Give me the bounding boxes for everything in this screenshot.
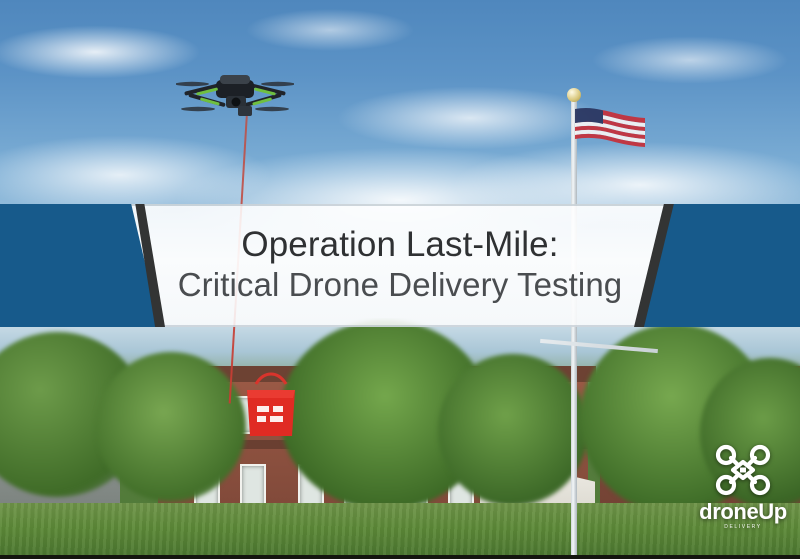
bottom-border	[0, 555, 800, 559]
quadcopter-drone-glyph-icon	[714, 443, 772, 497]
flagpole	[571, 96, 577, 558]
droneup-logo[interactable]: droneUp DELIVERY	[697, 443, 789, 543]
logo-tagline: DELIVERY	[724, 524, 761, 530]
logo-wordmark: droneUp	[699, 501, 787, 523]
american-flag	[575, 106, 647, 154]
tree	[96, 352, 246, 502]
slide-subtitle: Critical Drone Delivery Testing	[178, 266, 622, 305]
slide-title: Operation Last-Mile:	[241, 226, 558, 264]
delivery-package	[242, 372, 300, 438]
flagpole-finial	[567, 88, 581, 102]
lawn	[0, 503, 800, 559]
quadcopter-drone	[176, 60, 294, 122]
title-block: Operation Last-Mile: Critical Drone Deli…	[0, 204, 800, 327]
presentation-slide: Operation Last-Mile: Critical Drone Deli…	[0, 0, 800, 559]
ground-scene	[0, 318, 800, 559]
tree	[438, 354, 588, 506]
